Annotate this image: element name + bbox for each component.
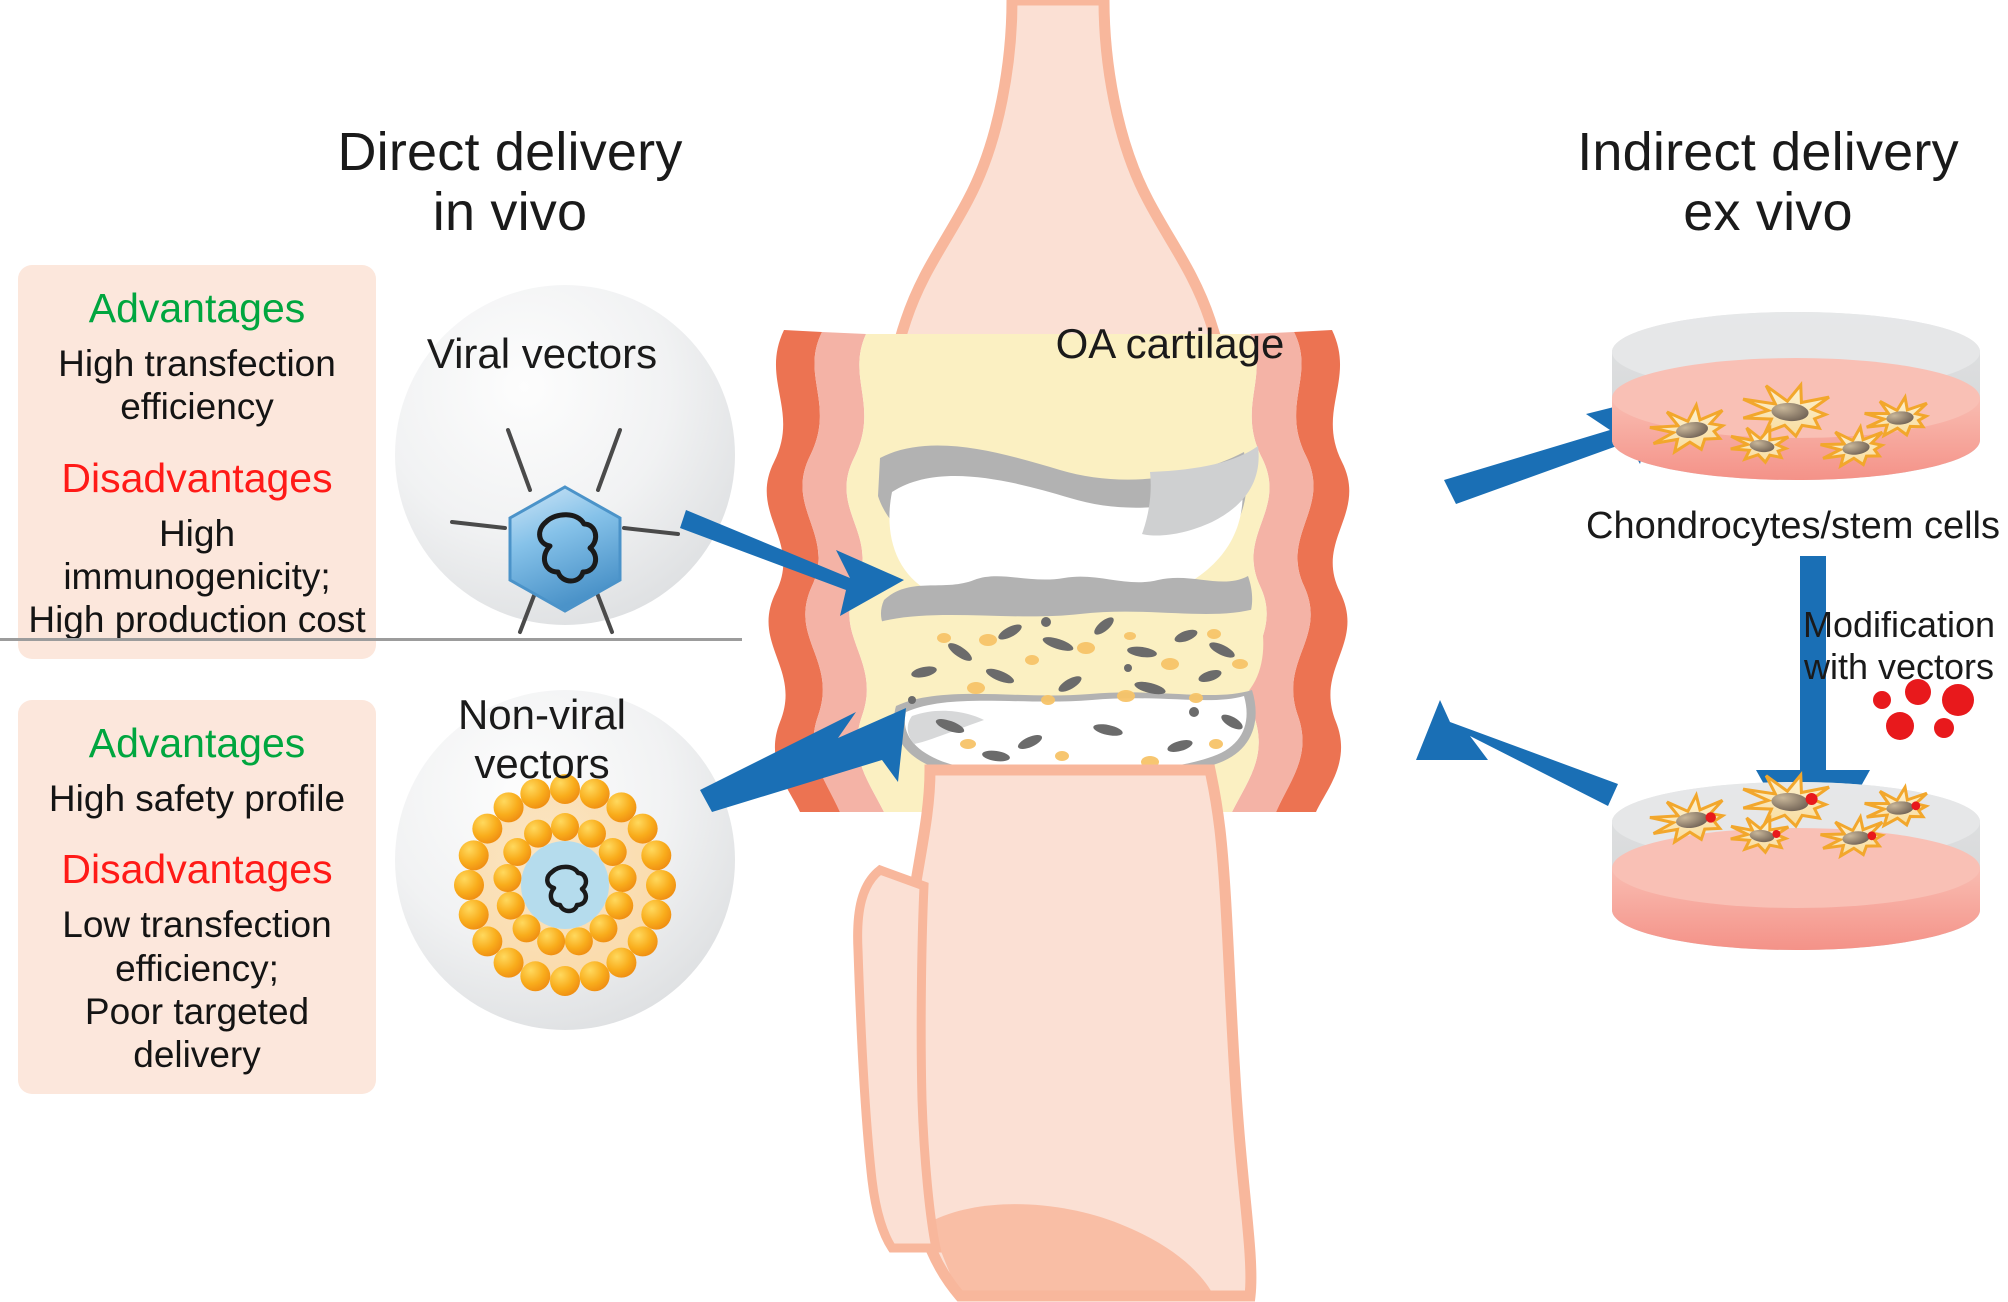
header-direct-delivery: Direct delivery in vivo <box>300 122 720 243</box>
disadvantages-heading: Disadvantages <box>28 846 366 893</box>
non-viral-label-line2: vectors <box>392 739 692 788</box>
red-particle-icon <box>1873 679 1974 740</box>
modification-line2: with vectors <box>1790 646 2008 688</box>
viral-vectors-label: Viral vectors <box>392 330 692 377</box>
advantages-text: High safety profile <box>28 777 366 820</box>
non-viral-label-line1: Non-viral <box>392 690 692 739</box>
header-direct-line1: Direct delivery <box>300 122 720 182</box>
viral-vector-info-panel: Advantages High transfection efficiency … <box>18 265 376 659</box>
header-direct-line2: in vivo <box>300 182 720 242</box>
panel-divider <box>0 638 742 641</box>
non-viral-vector-info-panel: Advantages High safety profile Disadvant… <box>18 700 376 1094</box>
chondrocytes-stem-cells-label: Chondrocytes/stem cells <box>1578 505 2008 548</box>
petri-dish-icon <box>1612 312 1980 480</box>
disadvantages-heading: Disadvantages <box>28 455 366 502</box>
disadvantages-text: Low transfection efficiency; Poor target… <box>28 903 366 1076</box>
modification-with-vectors-label: Modification with vectors <box>1790 604 2008 688</box>
modification-line1: Modification <box>1790 604 2008 646</box>
advantages-heading: Advantages <box>28 720 366 767</box>
header-indirect-delivery: Indirect delivery ex vivo <box>1528 122 2008 243</box>
oa-cartilage-label: OA cartilage <box>960 320 1380 367</box>
advantages-heading: Advantages <box>28 285 366 332</box>
disadvantages-text: High immunogenicity; High production cos… <box>28 512 366 642</box>
petri-dish-modified-icon <box>1612 771 1980 950</box>
advantages-text: High transfection efficiency <box>28 342 366 429</box>
header-indirect-line2: ex vivo <box>1528 182 2008 242</box>
knee-joint-icon <box>767 0 1350 1296</box>
figure-canvas: Direct delivery in vivo Indirect deliver… <box>0 0 2008 1302</box>
non-viral-vectors-label: Non-viral vectors <box>392 690 692 788</box>
header-indirect-line1: Indirect delivery <box>1528 122 2008 182</box>
